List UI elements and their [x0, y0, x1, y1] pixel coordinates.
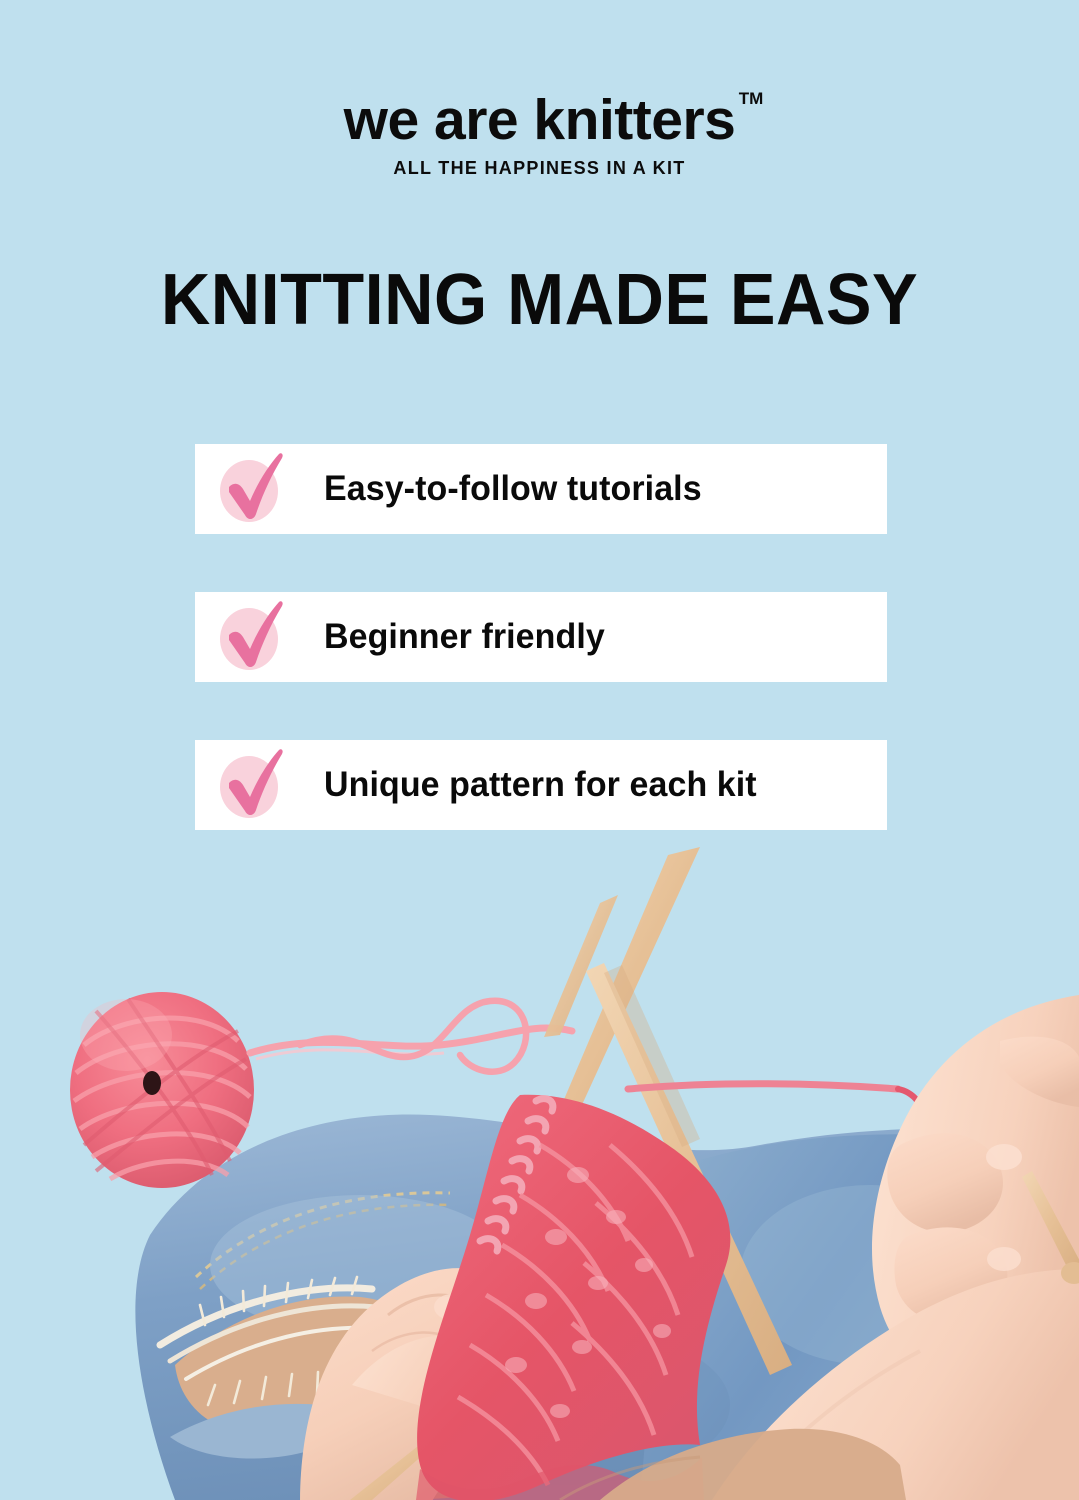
- check-icon: [195, 592, 281, 682]
- fingernail: [987, 1247, 1021, 1271]
- check-mark-icon: [221, 597, 287, 675]
- check-icon: [195, 740, 281, 830]
- fingernail: [986, 1144, 1022, 1170]
- benefits-list: Easy-to-follow tutorials Beginner friend…: [195, 444, 887, 830]
- logo-wordmark-text: we are knitters: [344, 88, 736, 152]
- check-mark-icon: [221, 745, 287, 823]
- page-title: KNITTING MADE EASY: [27, 264, 1052, 336]
- logo-wordmark: we are knitters TM: [344, 92, 736, 149]
- benefit-card: Easy-to-follow tutorials: [195, 444, 887, 534]
- check-icon: [195, 444, 281, 534]
- yarn-ball-hole: [143, 1071, 161, 1095]
- brand-logo: we are knitters TM ALL THE HAPPINESS IN …: [0, 92, 1079, 179]
- yarn-ball: [70, 992, 254, 1188]
- poster-root: we are knitters TM ALL THE HAPPINESS IN …: [0, 0, 1079, 1500]
- benefit-label: Unique pattern for each kit: [324, 765, 757, 805]
- check-mark-icon: [221, 449, 287, 527]
- benefit-label: Easy-to-follow tutorials: [324, 469, 702, 509]
- trademark-icon: TM: [739, 90, 764, 107]
- benefit-card: Beginner friendly: [195, 592, 887, 682]
- benefit-label: Beginner friendly: [324, 617, 605, 657]
- benefit-card: Unique pattern for each kit: [195, 740, 887, 830]
- knitting-photo: [0, 845, 1079, 1500]
- logo-tagline: ALL THE HAPPINESS IN A KIT: [0, 158, 1079, 179]
